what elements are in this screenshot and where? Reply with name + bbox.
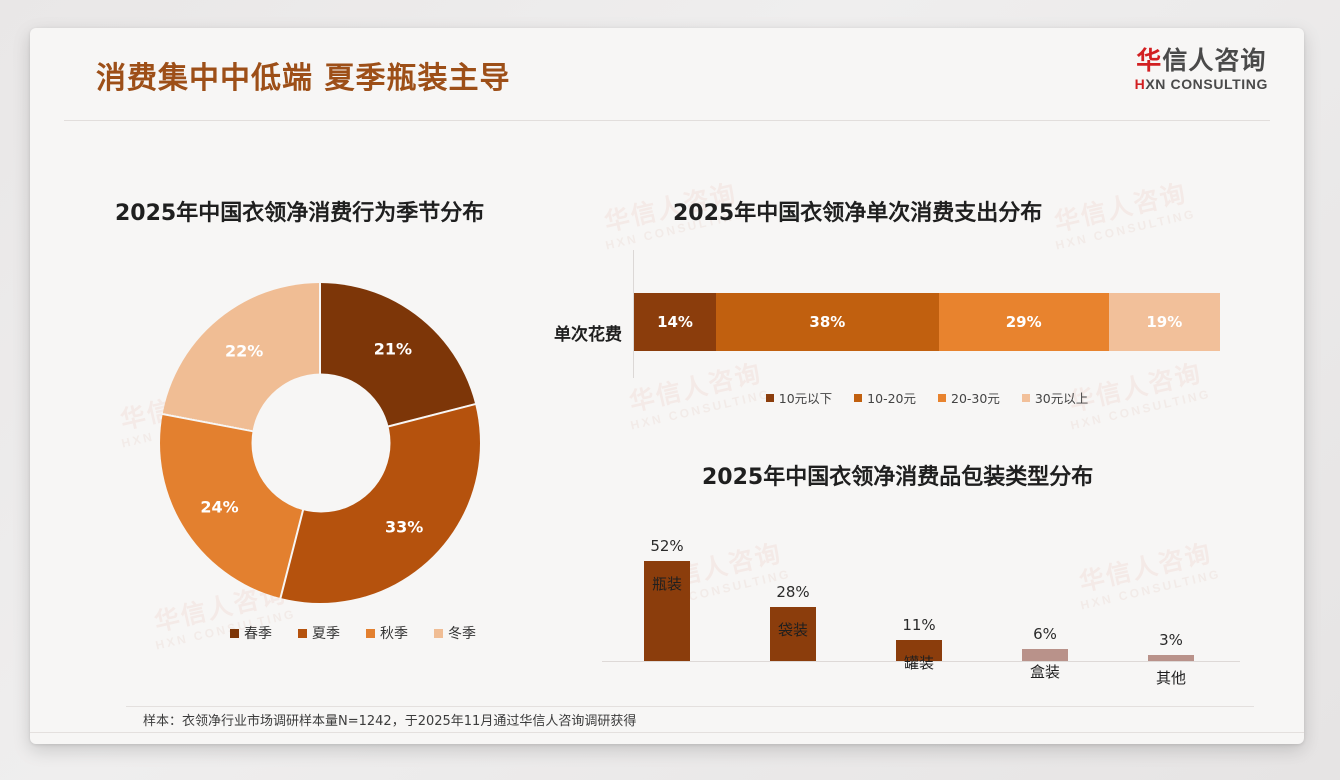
donut-legend-item[interactable]: 夏季 — [298, 623, 340, 643]
donut-legend-item[interactable]: 冬季 — [434, 623, 476, 643]
spend-bar-segment[interactable]: 14% — [634, 293, 716, 351]
spend-segment-label: 29% — [1006, 313, 1042, 331]
spend-legend: 10元以下10-20元20-30元30元以上 — [634, 388, 1220, 407]
legend-swatch — [434, 629, 443, 638]
spend-bar-segment[interactable]: 29% — [939, 293, 1109, 351]
logo-chinese: 华信人咨询 — [1135, 48, 1268, 74]
package-chart: 52%瓶装28%袋装11%罐装6%盒装3%其他 — [590, 498, 1250, 713]
donut-chart-title: 2025年中国衣领净消费行为季节分布 — [115, 195, 484, 227]
spend-legend-item[interactable]: 30元以上 — [1022, 388, 1088, 407]
logo-rest-chars: 信人咨询 — [1162, 47, 1266, 75]
legend-label: 30元以上 — [1035, 388, 1088, 407]
header-divider — [64, 120, 1270, 121]
package-column[interactable]: 6%盒装 — [1022, 649, 1068, 661]
legend-swatch — [766, 394, 774, 402]
package-category-label: 盒装 — [1030, 661, 1060, 682]
legend-label: 冬季 — [448, 623, 476, 643]
slide-header: 消费集中中低端 夏季瓶装主导 华信人咨询 HXN CONSULTING — [30, 28, 1304, 120]
spend-chart: 单次花费 14%38%29%19% 10元以下10-20元20-30元30元以上 — [530, 248, 1250, 423]
package-column[interactable]: 11%罐装 — [896, 640, 942, 661]
package-chart-title: 2025年中国衣领净消费品包装类型分布 — [702, 459, 1093, 491]
legend-swatch — [230, 629, 239, 638]
spend-segment-label: 19% — [1146, 313, 1182, 331]
legend-label: 20-30元 — [951, 388, 1000, 407]
package-category-label: 瓶装 — [652, 573, 682, 594]
spend-legend-item[interactable]: 10元以下 — [766, 388, 832, 407]
spend-legend-item[interactable]: 10-20元 — [854, 388, 916, 407]
page-title: 消费集中中低端 夏季瓶装主导 — [96, 53, 510, 97]
spend-legend-item[interactable]: 20-30元 — [938, 388, 1000, 407]
legend-label: 夏季 — [312, 623, 340, 643]
spend-segment-label: 14% — [657, 313, 693, 331]
logo-accent-char: 华 — [1136, 47, 1162, 75]
donut-separator — [319, 283, 321, 444]
donut-slice-label: 22% — [225, 342, 263, 361]
legend-label: 10元以下 — [779, 388, 832, 407]
legend-swatch — [366, 629, 375, 638]
donut-slice-label: 21% — [374, 339, 412, 358]
donut-legend-item[interactable]: 春季 — [230, 623, 272, 643]
package-category-label: 其他 — [1156, 667, 1186, 688]
watermark: 华信人咨询 HXN CONSULTING — [1046, 172, 1197, 252]
spend-bar-segment[interactable]: 19% — [1109, 293, 1220, 351]
package-value-label: 11% — [902, 616, 935, 634]
legend-swatch — [854, 394, 862, 402]
logo-english: HXN CONSULTING — [1135, 76, 1268, 92]
website-text: www.hxrcon.com — [1155, 743, 1262, 744]
package-value-label: 3% — [1159, 631, 1183, 649]
page-background: 华信人咨询 HXN CONSULTING 华信人咨询 HXN CONSULTIN… — [0, 0, 1340, 780]
donut-chart: 21%33%24%22% 春季夏季秋季冬季 — [133, 283, 508, 658]
package-column[interactable]: 52%瓶装 — [644, 561, 690, 661]
package-category-label: 罐装 — [904, 652, 934, 673]
package-bar[interactable] — [1022, 649, 1068, 661]
package-column[interactable]: 28%袋装 — [770, 607, 816, 661]
brand-logo: 华信人咨询 HXN CONSULTING — [1135, 48, 1268, 92]
donut-legend-item[interactable]: 秋季 — [366, 623, 408, 643]
spend-category-label: 单次花费 — [530, 320, 622, 345]
copyright-text: ©2026.1 HXR华信人咨询 — [104, 742, 259, 744]
package-bar[interactable] — [1148, 655, 1194, 661]
spend-stacked-bar: 14%38%29%19% — [634, 293, 1220, 351]
package-column[interactable]: 3%其他 — [1148, 655, 1194, 661]
spend-segment-label: 38% — [809, 313, 845, 331]
sample-divider — [126, 706, 1254, 707]
donut-slice-label: 24% — [200, 497, 238, 516]
package-value-label: 28% — [776, 583, 809, 601]
donut-legend: 春季夏季秋季冬季 — [193, 623, 513, 643]
logo-en-accent: H — [1135, 76, 1146, 92]
legend-swatch — [938, 394, 946, 402]
legend-swatch — [298, 629, 307, 638]
package-category-label: 袋装 — [778, 619, 808, 640]
slide: 华信人咨询 HXN CONSULTING 华信人咨询 HXN CONSULTIN… — [30, 28, 1304, 744]
footer-divider — [30, 732, 1304, 733]
legend-label: 秋季 — [380, 623, 408, 643]
donut-slice-label: 33% — [385, 518, 423, 537]
package-value-label: 52% — [650, 537, 683, 555]
sample-note: 样本：衣领净行业市场调研样本量N=1242，于2025年11月通过华信人咨询调研… — [143, 710, 636, 729]
legend-swatch — [1022, 394, 1030, 402]
legend-label: 春季 — [244, 623, 272, 643]
legend-label: 10-20元 — [867, 388, 916, 407]
spend-bar-segment[interactable]: 38% — [716, 293, 939, 351]
spend-chart-title: 2025年中国衣领净单次消费支出分布 — [673, 195, 1042, 227]
logo-en-rest: XN CONSULTING — [1145, 76, 1268, 92]
package-value-label: 6% — [1033, 625, 1057, 643]
